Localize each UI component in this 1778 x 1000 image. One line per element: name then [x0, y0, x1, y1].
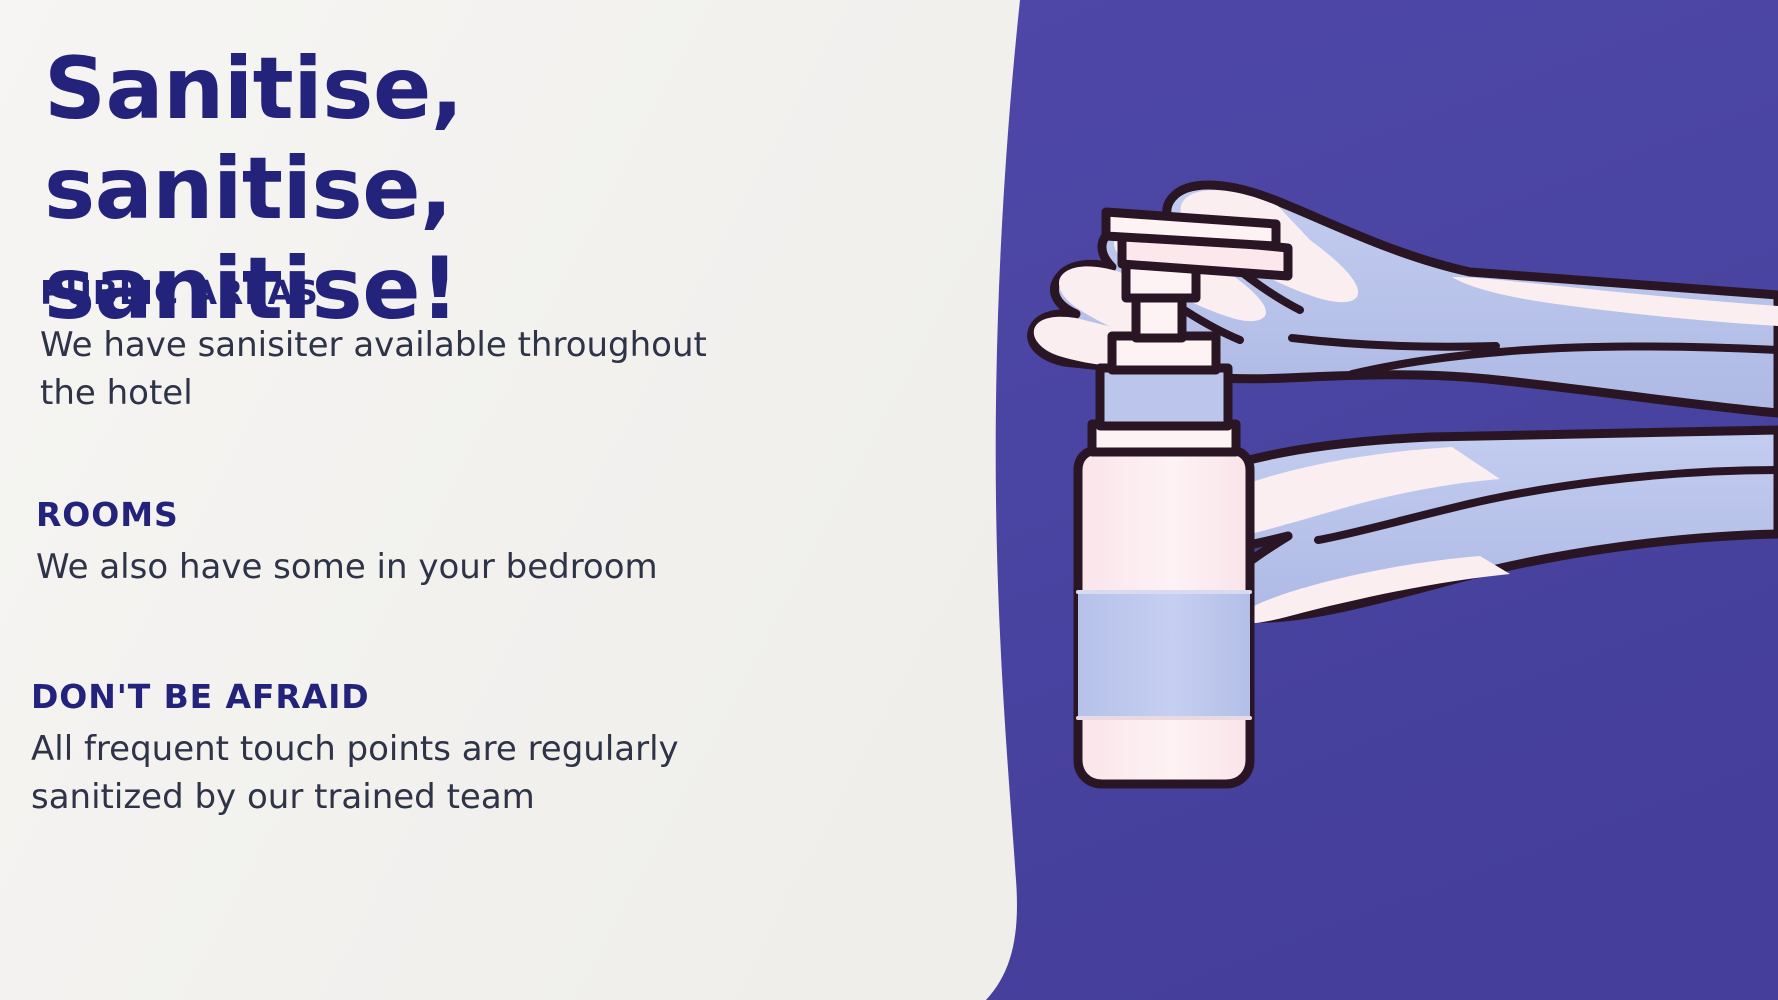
- text-column: Sanitise, sanitise, sanitise! PUBLIC ARE…: [0, 0, 900, 1000]
- section-body-rooms: We also have some in your bedroom: [0, 543, 726, 591]
- page-title-line-1: Sanitise, sanitise,: [44, 39, 463, 239]
- section-body-line: We also have some in your bedroom: [36, 543, 726, 591]
- section-body-line: sanitized by our trained team: [31, 773, 721, 821]
- section-body-line: We have sanisiter available throughout: [40, 321, 730, 369]
- sanitizer-bottle: [1078, 212, 1288, 784]
- section-body-dont-be-afraid: All frequent touch points are regularly …: [0, 725, 721, 822]
- upper-hand-pressing-pump: [1032, 185, 1778, 413]
- section-body-line: the hotel: [40, 369, 730, 417]
- section-public-areas: PUBLIC AREAS We have sanisiter available…: [0, 272, 860, 417]
- poster-slide: Sanitise, sanitise, sanitise! PUBLIC ARE…: [0, 0, 1778, 1000]
- section-body-public-areas: We have sanisiter available throughout t…: [0, 321, 730, 418]
- section-rooms: ROOMS We also have some in your bedroom: [0, 494, 860, 591]
- section-title-public-areas: PUBLIC AREAS: [0, 272, 860, 315]
- section-body-line: All frequent touch points are regularly: [31, 725, 721, 773]
- purple-background-shape: [986, 0, 1778, 1000]
- section-dont-be-afraid: DON'T BE AFRAID All frequent touch point…: [0, 676, 860, 821]
- section-title-dont-be-afraid: DON'T BE AFRAID: [0, 676, 860, 719]
- lower-hand-cupped: [1122, 430, 1778, 623]
- section-title-rooms: ROOMS: [0, 494, 860, 537]
